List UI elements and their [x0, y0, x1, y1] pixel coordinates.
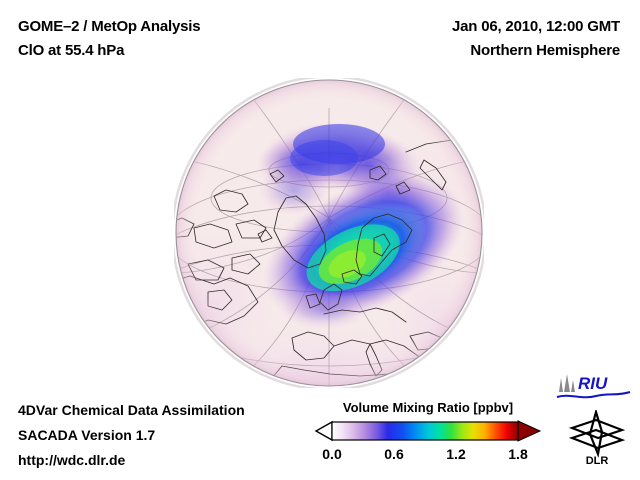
figure-canvas: GOME–2 / MetOp Analysis ClO at 55.4 hPa … — [0, 0, 640, 480]
colorbar-tick-0: 0.0 — [322, 446, 341, 462]
limb-shading — [176, 80, 482, 386]
riu-wordmark: RIU — [578, 374, 608, 393]
page-subtitle: ClO at 55.4 hPa — [18, 42, 124, 59]
globe-map — [174, 78, 484, 388]
colorbar-body — [332, 422, 518, 440]
dlr-logo: DLR — [566, 410, 628, 466]
colorbar-tick-3: 1.8 — [508, 446, 527, 462]
colorbar-tick-2: 1.2 — [446, 446, 465, 462]
riu-logo-svg: RIU — [556, 372, 632, 402]
dlr-mark-icon — [572, 412, 622, 454]
hemisphere-label: Northern Hemisphere — [470, 42, 620, 59]
colorbar-over-arrow — [518, 421, 540, 441]
dlr-logo-svg: DLR — [566, 410, 628, 466]
riu-spires-icon — [559, 374, 575, 392]
colorbar-tick-labels: 0.00.61.21.8 — [312, 446, 544, 468]
colorbar-tick-1: 0.6 — [384, 446, 403, 462]
colorbar-gradient — [312, 420, 544, 444]
riu-logo: RIU — [556, 372, 632, 402]
colorbar-under-arrow — [316, 422, 332, 440]
url-label: http://wdc.dlr.de — [18, 452, 125, 468]
globe-svg — [174, 78, 484, 388]
timestamp-label: Jan 06, 2010, 12:00 GMT — [452, 18, 620, 35]
page-title: GOME–2 / MetOp Analysis — [18, 18, 200, 35]
method-label: 4DVar Chemical Data Assimilation — [18, 402, 245, 418]
colorbar-title: Volume Mixing Ratio [ppbv] — [312, 400, 544, 415]
version-label: SACADA Version 1.7 — [18, 427, 155, 443]
dlr-wordmark: DLR — [586, 455, 609, 466]
colorbar: Volume Mixing Ratio [ppbv] 0.00.61.21.8 — [312, 400, 544, 472]
colorbar-svg — [312, 420, 544, 444]
